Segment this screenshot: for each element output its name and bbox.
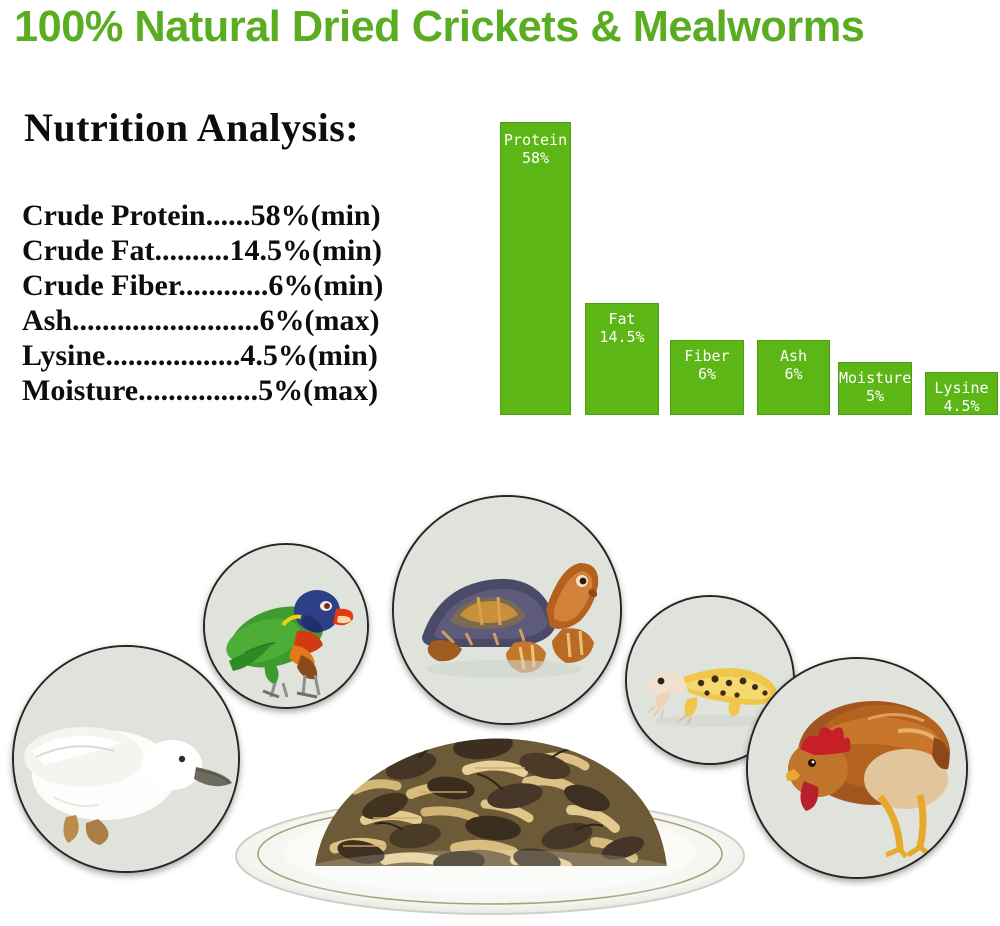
bar-value-lysine: 4.5% [926, 397, 997, 415]
bar-ash: Ash 6% [757, 340, 830, 415]
bar-label-fiber: Fiber [671, 347, 743, 365]
insect-plate-illustration [215, 670, 765, 920]
bar-value-protein: 58% [501, 149, 570, 167]
product-infographic: 100% Natural Dried Crickets & Mealworms … [0, 0, 1000, 926]
animal-photo-collage [0, 455, 1000, 926]
photo-circle-chicken [746, 657, 968, 879]
bar-value-fiber: 6% [671, 365, 743, 383]
bar-moisture: Moisture 5% [838, 362, 912, 415]
bar-value-moisture: 5% [839, 387, 911, 405]
bar-value-fat: 14.5% [586, 328, 658, 346]
photo-plate-insects [215, 670, 765, 920]
photo-circle-duck [12, 645, 240, 873]
bar-lysine: Lysine 4.5% [925, 372, 998, 415]
bar-value-ash: 6% [758, 365, 829, 383]
nutrition-bar-chart: Protein 58% Fat 14.5% Fiber 6% Ash 6% Mo… [0, 0, 1000, 430]
duck-illustration [14, 647, 238, 871]
chicken-illustration [748, 659, 966, 877]
bar-protein: Protein 58% [500, 122, 571, 415]
bar-label-lysine: Lysine [926, 379, 997, 397]
bar-label-ash: Ash [758, 347, 829, 365]
bar-fiber: Fiber 6% [670, 340, 744, 415]
bar-label-protein: Protein [501, 131, 570, 149]
bar-label-moisture: Moisture [839, 369, 911, 387]
bar-label-fat: Fat [586, 310, 658, 328]
bar-fat: Fat 14.5% [585, 303, 659, 415]
